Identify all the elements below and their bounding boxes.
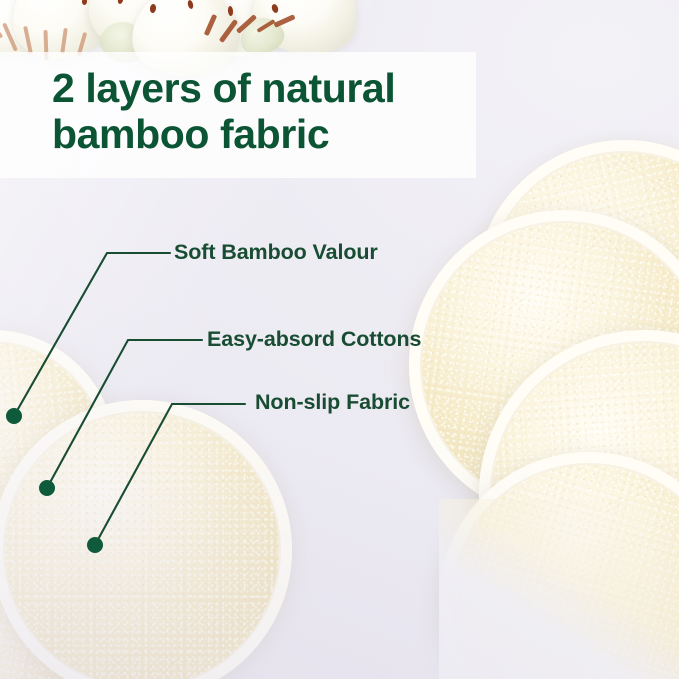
callout-label-easy-absord-cottons: Easy-absord Cottons <box>207 327 421 352</box>
callout-label-non-slip-fabric: Non-slip Fabric <box>255 390 410 415</box>
callout-dot-soft-bamboo-valour <box>6 408 22 424</box>
leader-line-non-slip-fabric <box>95 404 245 545</box>
callout-label-soft-bamboo-valour: Soft Bamboo Valour <box>174 240 378 265</box>
infographic-canvas: 2 layers of natural bamboo fabric Soft B… <box>0 0 679 679</box>
callout-dot-easy-absord-cottons <box>39 480 55 496</box>
callout-dot-non-slip-fabric <box>87 537 103 553</box>
leader-line-easy-absord-cottons <box>47 340 202 488</box>
leader-line-soft-bamboo-valour <box>14 253 170 416</box>
